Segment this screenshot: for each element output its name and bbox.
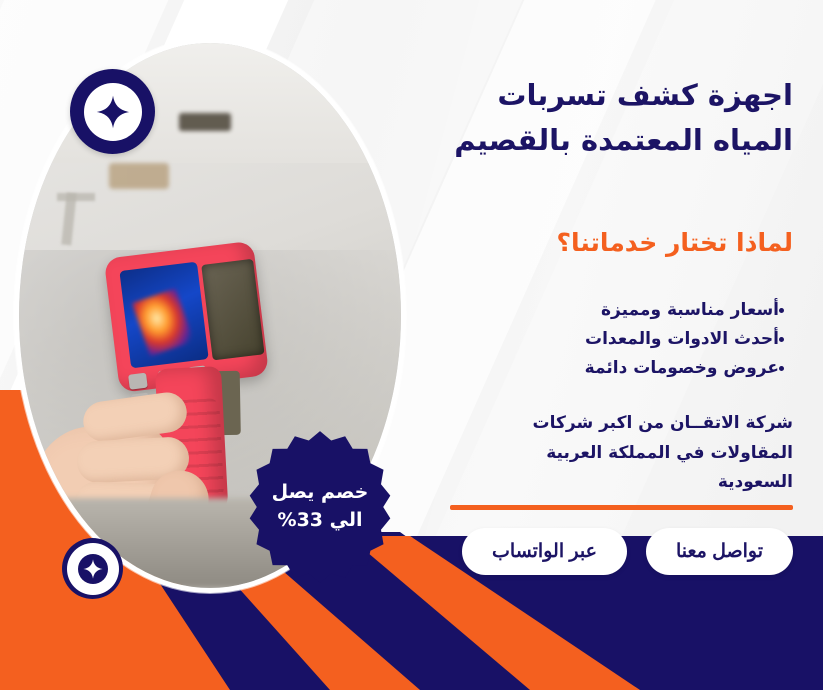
list-item-label: أحدث الادوات والمعدات: [585, 329, 779, 349]
thermal-image: [132, 288, 194, 356]
list-item: أسعار مناسبة ومميزة: [423, 296, 793, 325]
page-title: اجهزة كشف تسربات المياه المعتمدة بالقصيم: [423, 73, 793, 163]
discount-badge-text: خصم يصل الي 33%: [241, 428, 399, 586]
list-item-label: عروض وخصومات دائمة: [585, 358, 779, 378]
bullet-dot-icon: [779, 308, 784, 313]
bullet-dot-icon: [779, 337, 784, 342]
logo-bottom-core: [78, 554, 108, 584]
list-item-label: أسعار مناسبة ومميزة: [601, 300, 779, 320]
logo-top-disc: [84, 83, 142, 141]
finger: [81, 390, 190, 444]
photo-vent: [179, 113, 231, 131]
discount-badge: خصم يصل الي 33%: [241, 428, 399, 586]
discount-line-1: خصم يصل: [272, 479, 369, 507]
whatsapp-button[interactable]: عبر الواتساب: [462, 528, 627, 575]
discount-line-2: الي 33%: [278, 507, 363, 535]
logo-bottom[interactable]: [62, 538, 123, 599]
four-point-star-sparkle-icon: [83, 559, 103, 579]
logo-bottom-disc: [67, 543, 119, 595]
list-item: عروض وخصومات دائمة: [423, 354, 793, 383]
contact-button[interactable]: تواصل معنا: [646, 528, 793, 575]
poster-canvas: خصم يصل الي 33% اجهزة كشف تسربات المياه …: [0, 0, 823, 690]
bullet-dot-icon: [779, 366, 784, 371]
photo-pipe: [109, 163, 169, 189]
section-subheading: لماذا تختار خدماتنا؟: [423, 228, 793, 257]
cta-button-row: عبر الواتساب تواصل معنا: [462, 528, 793, 575]
photo-pipe: [57, 193, 95, 201]
list-item: أحدث الادوات والمعدات: [423, 325, 793, 354]
orange-divider: [450, 505, 793, 510]
benefits-list: أسعار مناسبة ومميزة أحدث الادوات والمعدا…: [423, 296, 793, 384]
logo-top[interactable]: [70, 69, 155, 154]
four-point-star-sparkle-icon: [96, 95, 130, 129]
company-description: شركة الاتقــان من اكبر شركات المقاولات ف…: [493, 409, 793, 498]
camera-screen: [119, 262, 208, 369]
